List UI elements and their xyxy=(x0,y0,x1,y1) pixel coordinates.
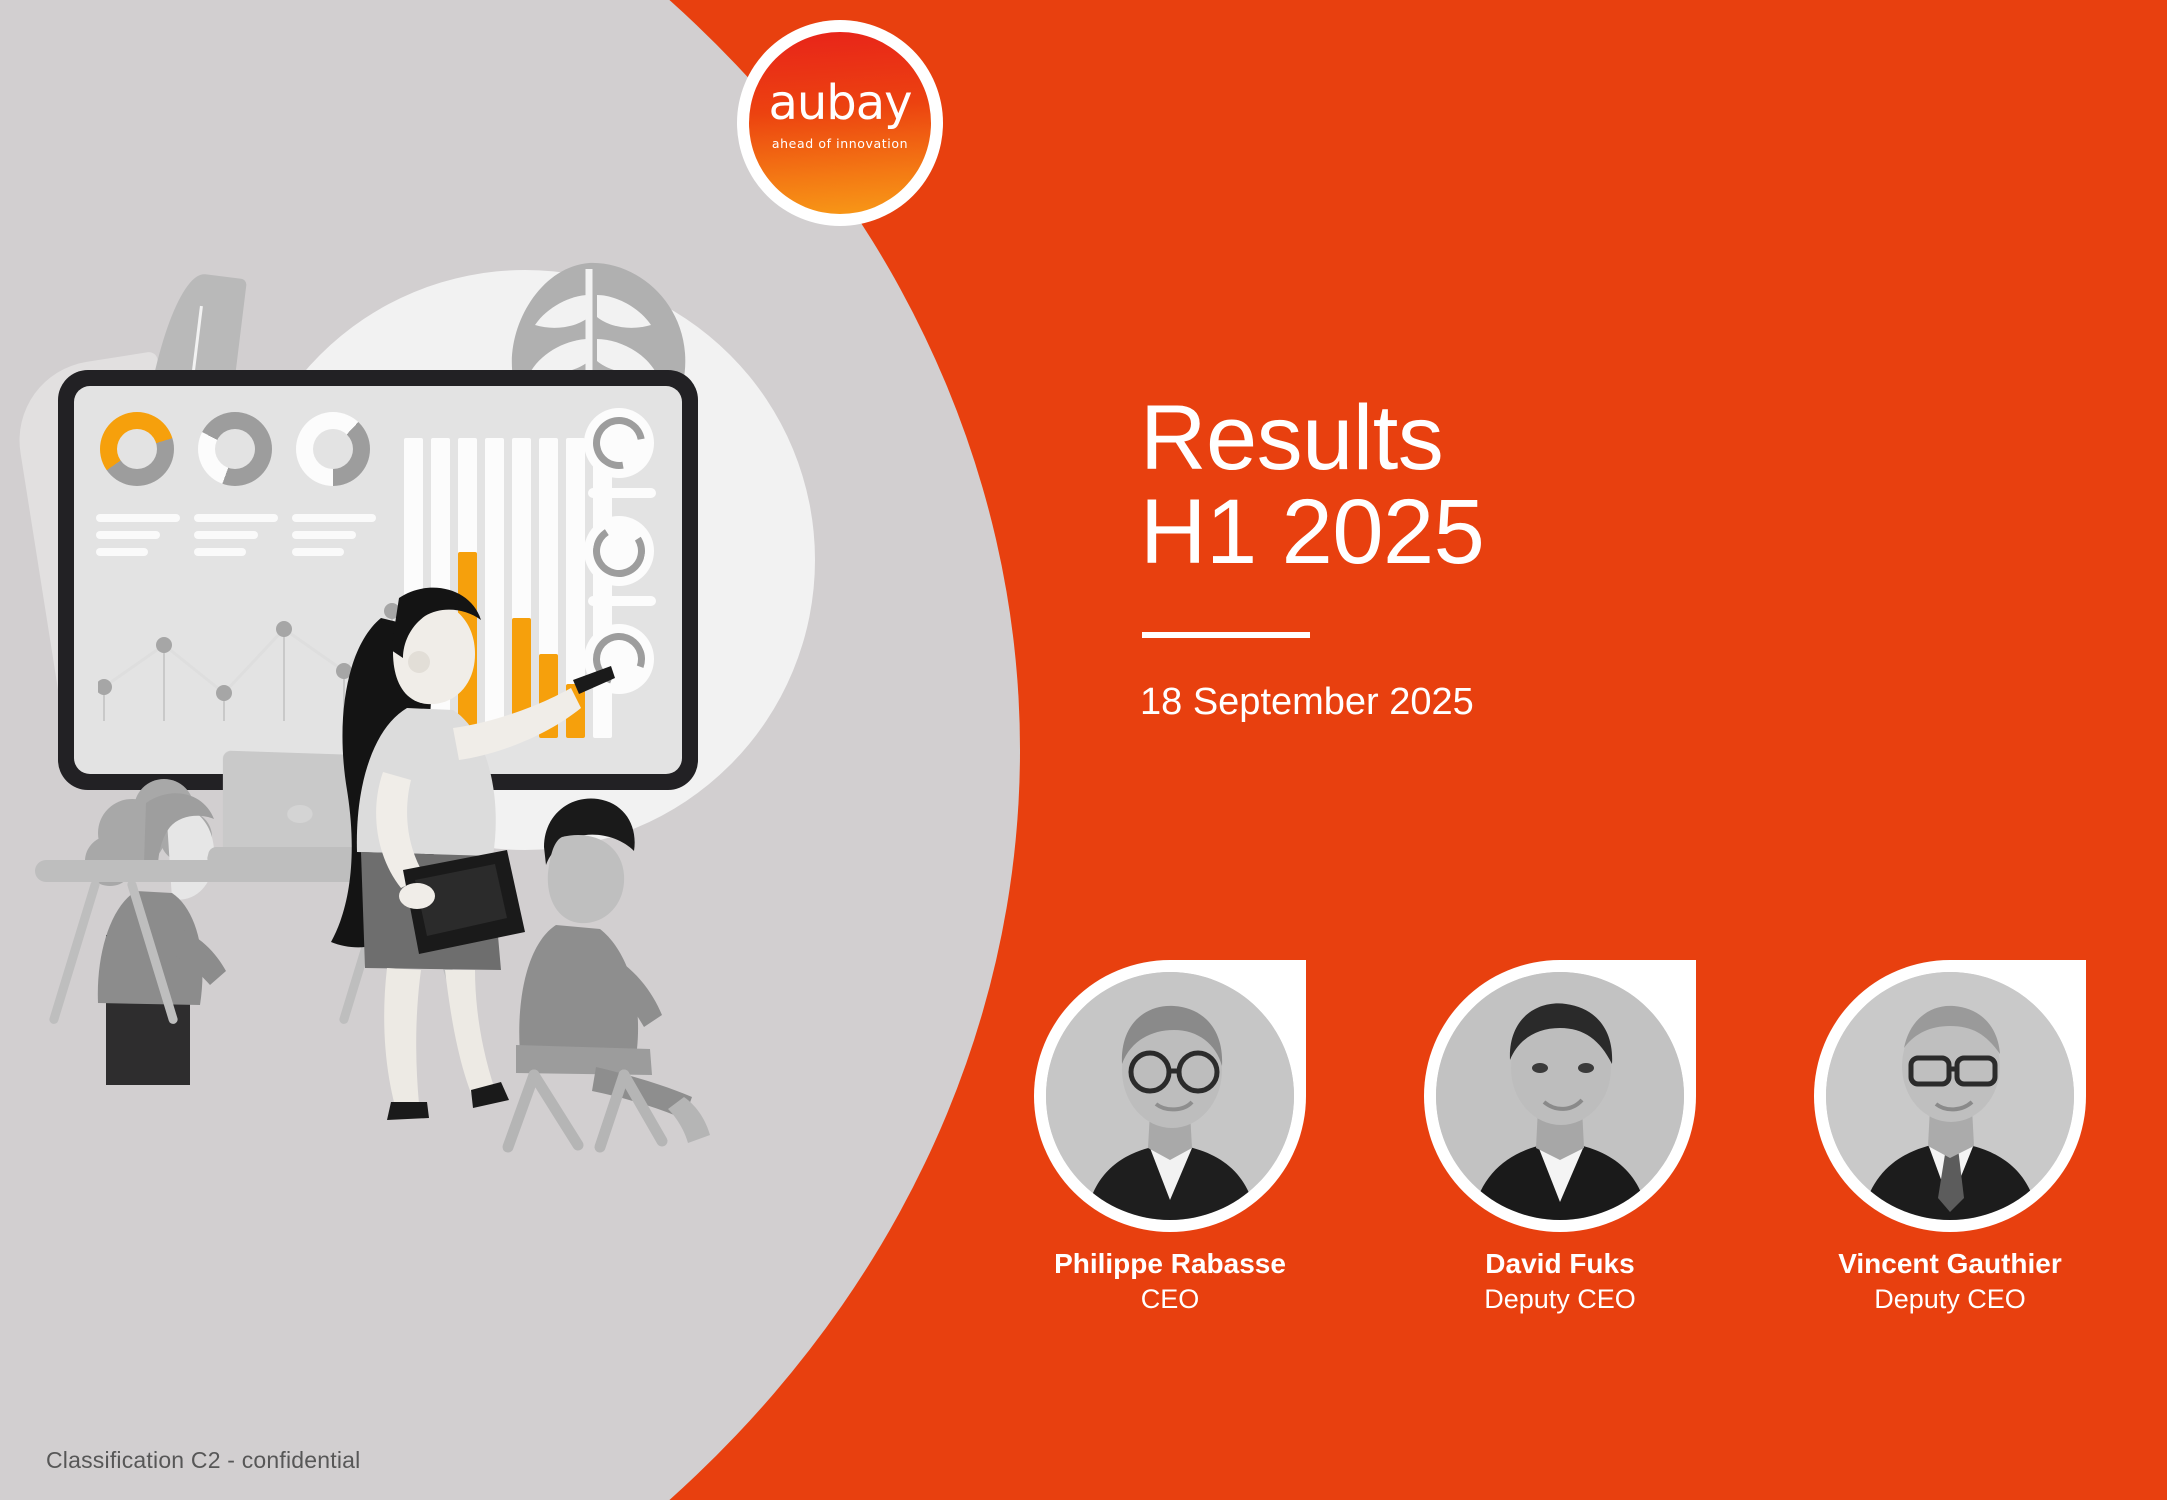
avatar xyxy=(1826,972,2074,1220)
person-card: Philippe Rabasse CEO xyxy=(1020,960,1320,1380)
progress-label-pill xyxy=(588,488,656,498)
avatar-frame xyxy=(1424,960,1696,1232)
analytics-illustration xyxy=(30,255,900,1155)
progress-ring-1-icon xyxy=(584,408,654,478)
donut-chart-light-icon xyxy=(296,412,370,486)
classification-footer: Classification C2 - confidential xyxy=(46,1447,361,1474)
avatar-frame xyxy=(1814,960,2086,1232)
donut-chart-grey-icon xyxy=(198,412,272,486)
placeholder-text-block-2 xyxy=(194,514,278,565)
logo-wordmark: aubay xyxy=(749,79,931,127)
title-block: Results H1 2025 18 September 2025 xyxy=(1140,392,2040,724)
placeholder-text-block-1 xyxy=(96,514,180,565)
logo-disc: aubay ahead of innovation xyxy=(749,32,931,214)
person-name: Vincent Gauthier xyxy=(1800,1248,2100,1280)
aubay-logo[interactable]: aubay ahead of innovation xyxy=(737,20,943,226)
donut-chart-orange-icon xyxy=(100,412,174,486)
figure-seated-attendee xyxy=(500,775,760,1155)
person-role: Deputy CEO xyxy=(1800,1284,2100,1315)
slide-canvas: aubay ahead of innovation Results H1 202… xyxy=(0,0,2167,1500)
avatar-frame xyxy=(1034,960,1306,1232)
logo-tagline: ahead of innovation xyxy=(749,136,931,151)
avatar xyxy=(1046,972,1294,1220)
person-role: CEO xyxy=(1020,1284,1320,1315)
person-card: Vincent Gauthier Deputy CEO xyxy=(1800,960,2100,1380)
presentation-date: 18 September 2025 xyxy=(1140,681,2040,724)
title-divider xyxy=(1142,632,1310,638)
person-name: Philippe Rabasse xyxy=(1020,1248,1320,1280)
executives-row: Philippe Rabasse CEO xyxy=(1020,960,2100,1380)
person-name: David Fuks xyxy=(1410,1248,1710,1280)
person-card: David Fuks Deputy CEO xyxy=(1410,960,1710,1380)
page-title: Results H1 2025 xyxy=(1140,392,2040,580)
person-role: Deputy CEO xyxy=(1410,1284,1710,1315)
avatar xyxy=(1436,972,1684,1220)
